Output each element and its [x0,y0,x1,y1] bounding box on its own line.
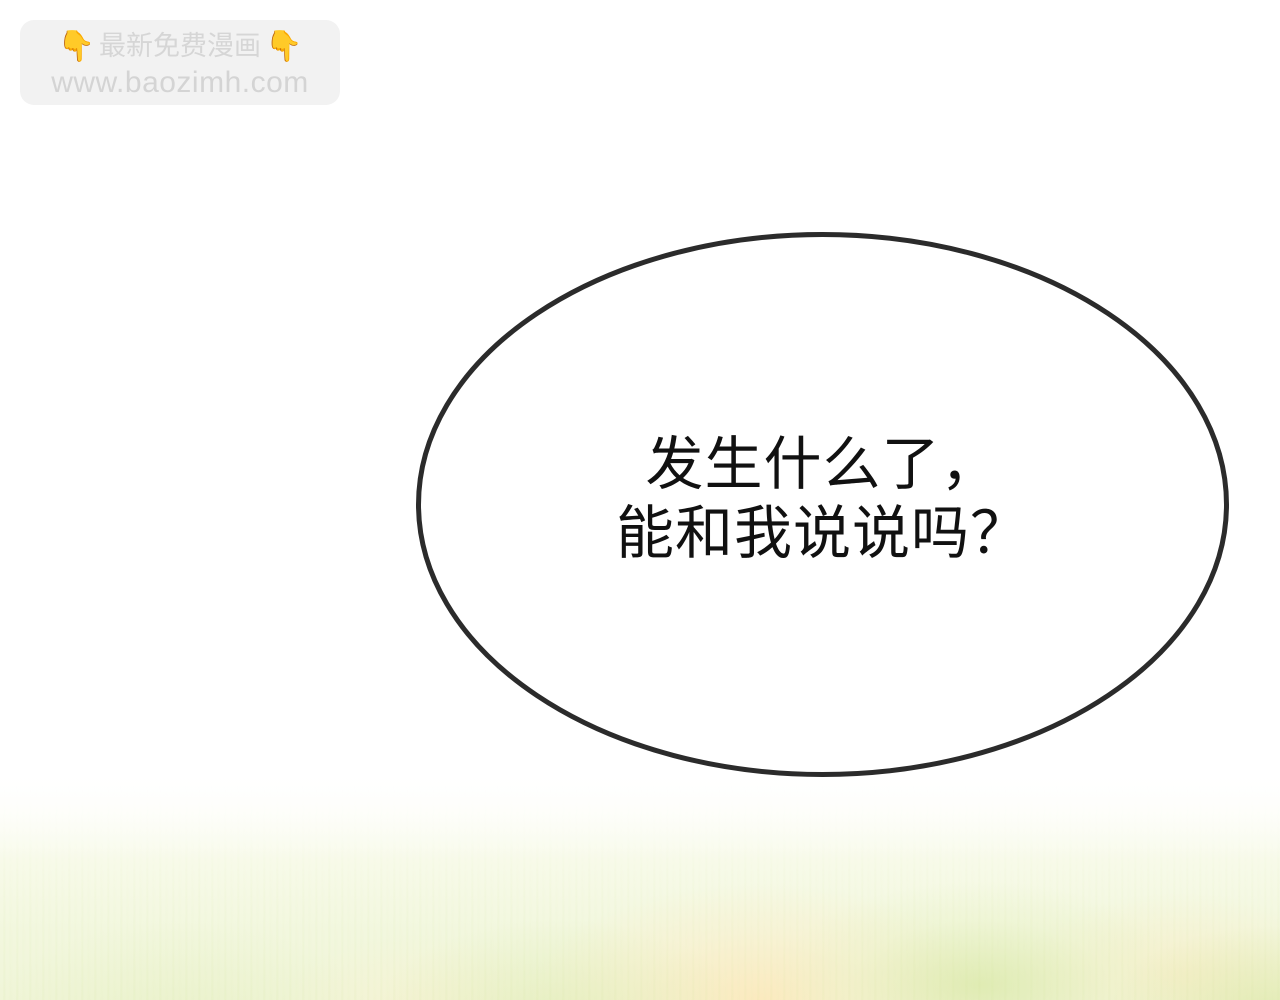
speech-bubble-line-1: 发生什么了， [415,430,1230,499]
watermark-badge: 👇 最新免费漫画 👇 www.baozimh.com [20,20,340,105]
grass-blade-texture [0,770,1280,1000]
pointing-down-hand-icon-right: 👇 [265,32,302,62]
pointing-down-hand-icon-left: 👇 [58,32,95,62]
speech-bubble-text: 发生什么了， 能和我说说吗？ [415,430,1230,568]
grass-warm-highlights [0,770,1280,1000]
watermark-top-row: 👇 最新免费漫画 👇 [58,28,303,66]
grass-green-highlights [0,770,1280,1000]
speech-bubble-line-2: 能和我说说吗？ [415,499,1230,568]
grass-top-fade [0,770,1280,860]
watermark-site-url: www.baozimh.com [51,68,309,98]
grass-foliage-band [0,770,1280,1000]
grass-base-gradient [0,770,1280,1000]
watermark-chinese-label: 最新免费漫画 [99,33,261,60]
comic-panel: 发生什么了， 能和我说说吗？ 👇 最新免费漫画 👇 www.baozimh.co… [0,0,1280,1000]
